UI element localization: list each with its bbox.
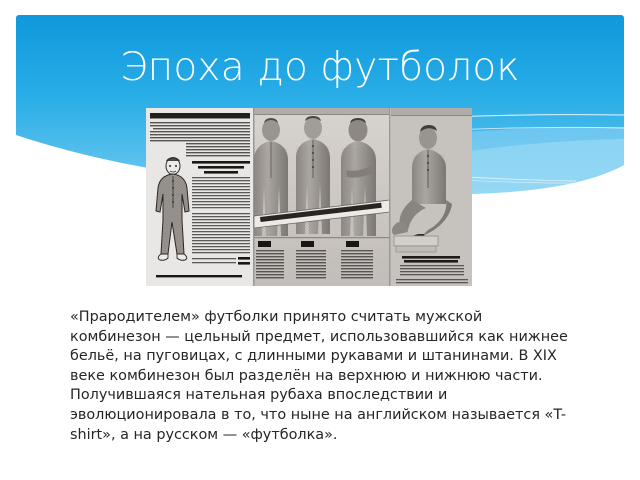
body-paragraph: «Прародителем» футболки принято считать … <box>70 308 576 445</box>
presentation-slide: Эпоха до футболок <box>0 0 640 480</box>
catalog-scan-graphic <box>146 108 472 286</box>
slide-title: Эпоха до футболок <box>16 44 624 92</box>
vintage-union-suits-catalog-scan <box>146 108 472 286</box>
body-paragraph-container: «Прародителем» футболки принято считать … <box>70 308 576 445</box>
